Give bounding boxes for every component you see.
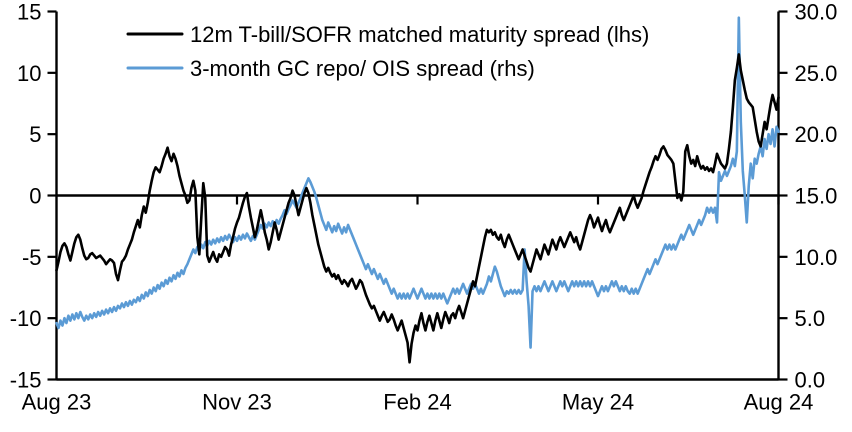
- left-tick-label: -10: [10, 306, 42, 331]
- x-tick-label: Feb 24: [383, 390, 452, 415]
- left-tick-label: 15: [17, 0, 41, 25]
- line-chart: 151050-5-10-15 30.025.020.015.010.05.00.…: [0, 0, 852, 432]
- legend-label-tbill-sofr: 12m T-bill/SOFR matched maturity spread …: [190, 22, 649, 47]
- x-tick-label: Nov 23: [202, 390, 272, 415]
- right-tick-label: 25.0: [795, 61, 838, 86]
- left-tick-label: -5: [22, 245, 42, 270]
- x-tick-label: Aug 24: [744, 390, 814, 415]
- right-tick-label: 15.0: [795, 184, 838, 209]
- left-tick-label: 0: [29, 184, 41, 209]
- x-tick-label: May 24: [562, 390, 634, 415]
- x-tick-label: Aug 23: [22, 390, 92, 415]
- legend-label-gc-repo-ois: 3-month GC repo/ OIS spread (rhs): [190, 56, 535, 81]
- right-tick-label: 5.0: [795, 306, 826, 331]
- right-tick-label: 30.0: [795, 0, 838, 25]
- left-tick-label: 10: [17, 61, 41, 86]
- right-tick-label: 10.0: [795, 245, 838, 270]
- left-tick-label: 5: [29, 122, 41, 147]
- right-tick-label: 20.0: [795, 122, 838, 147]
- chart-container: 151050-5-10-15 30.025.020.015.010.05.00.…: [0, 0, 852, 432]
